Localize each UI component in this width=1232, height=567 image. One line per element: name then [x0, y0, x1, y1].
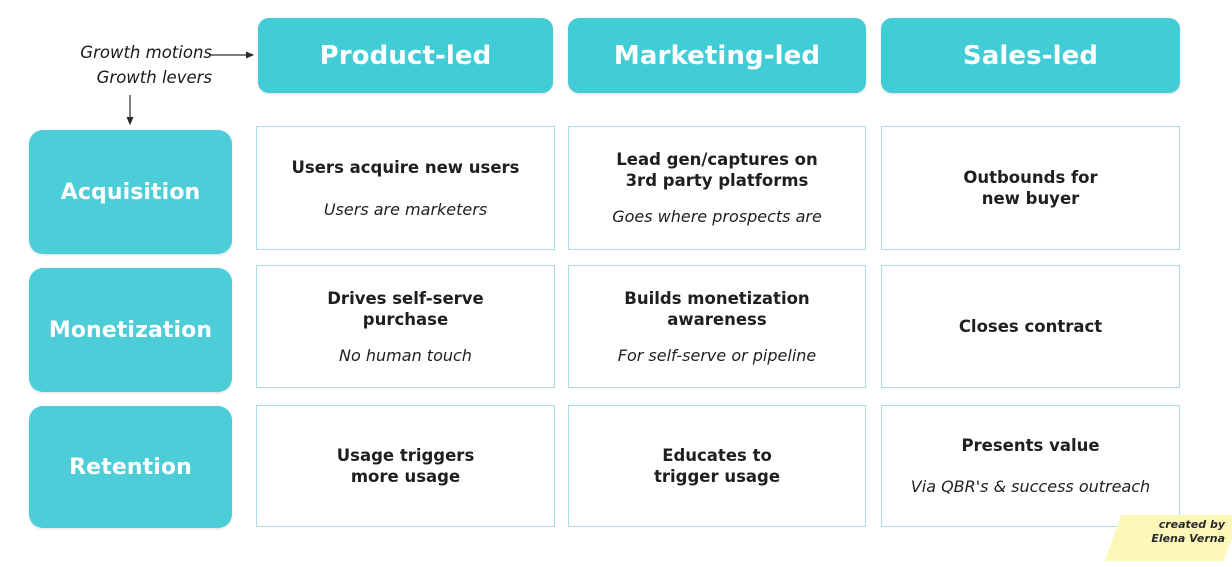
annotation-labels: Growth motions Growth levers	[0, 40, 212, 90]
row-label-acquisition[interactable]: Acquisition	[29, 130, 232, 254]
column-header-product-led[interactable]: Product-led	[258, 18, 553, 93]
growth-levers-label: Growth levers	[0, 65, 212, 90]
column-header-sales-led[interactable]: Sales-led	[881, 18, 1180, 93]
matrix-cell[interactable]: Presents value Via QBR's & success outre…	[881, 405, 1180, 527]
cell-primary-text: Usage triggers more usage	[337, 445, 475, 487]
row-label-text: Acquisition	[61, 180, 201, 205]
growth-motions-label: Growth motions	[0, 40, 212, 65]
watermark-line-1: created by	[1120, 518, 1225, 532]
cell-primary-text: Educates to trigger usage	[654, 445, 780, 487]
cell-primary-text: Outbounds for new buyer	[963, 167, 1097, 209]
matrix-cell[interactable]: Builds monetization awareness For self-s…	[568, 265, 866, 388]
watermark-text: created by Elena Verna	[1120, 518, 1225, 546]
matrix-cell[interactable]: Educates to trigger usage	[568, 405, 866, 527]
row-label-text: Retention	[69, 455, 192, 480]
matrix-cell[interactable]: Usage triggers more usage	[256, 405, 555, 527]
matrix-cell[interactable]: Closes contract	[881, 265, 1180, 388]
row-label-retention[interactable]: Retention	[29, 406, 232, 528]
cell-primary-text: Builds monetization awareness	[624, 288, 809, 330]
cell-secondary-text: Users are marketers	[324, 200, 487, 220]
column-header-label: Marketing-led	[614, 41, 820, 71]
matrix-cell[interactable]: Outbounds for new buyer	[881, 126, 1180, 250]
growth-motions-matrix: Growth motions Growth levers Product-led…	[0, 0, 1232, 567]
cell-primary-text: Presents value	[961, 435, 1099, 456]
cell-primary-text: Lead gen/captures on 3rd party platforms	[616, 149, 818, 191]
matrix-cell[interactable]: Drives self-serve purchase No human touc…	[256, 265, 555, 388]
watermark-line-2: Elena Verna	[1120, 532, 1225, 546]
cell-primary-text: Users acquire new users	[292, 157, 520, 178]
row-label-monetization[interactable]: Monetization	[29, 268, 232, 392]
column-header-label: Product-led	[320, 41, 492, 71]
column-header-label: Sales-led	[963, 41, 1098, 71]
cell-secondary-text: No human touch	[339, 346, 472, 366]
row-label-text: Monetization	[49, 318, 212, 343]
column-header-marketing-led[interactable]: Marketing-led	[568, 18, 866, 93]
cell-secondary-text: Goes where prospects are	[612, 207, 822, 227]
matrix-cell[interactable]: Users acquire new users Users are market…	[256, 126, 555, 250]
cell-secondary-text: For self-serve or pipeline	[618, 346, 817, 366]
matrix-cell[interactable]: Lead gen/captures on 3rd party platforms…	[568, 126, 866, 250]
cell-primary-text: Drives self-serve purchase	[327, 288, 484, 330]
cell-secondary-text: Via QBR's & success outreach	[911, 477, 1150, 497]
cell-primary-text: Closes contract	[959, 316, 1102, 337]
